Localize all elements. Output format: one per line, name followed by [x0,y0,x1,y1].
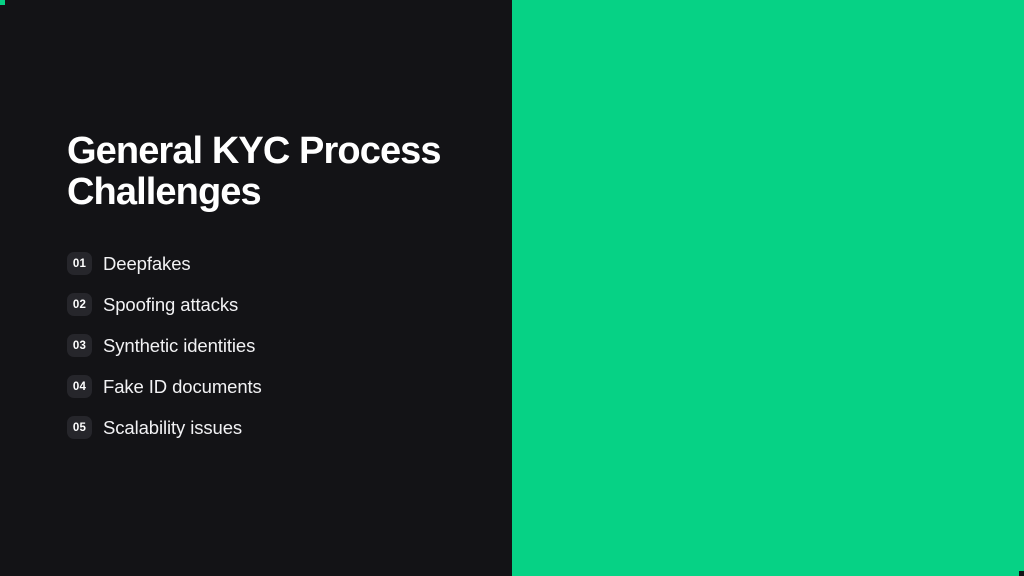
item-label: Deepfakes [103,253,191,275]
item-number-badge: 05 [67,416,92,439]
list-item: 04 Fake ID documents [67,366,488,407]
item-label: Spoofing attacks [103,294,238,316]
challenges-panel: General KYC Process Challenges 01 Deepfa… [0,0,512,576]
item-number-badge: 04 [67,375,92,398]
item-label: Fake ID documents [103,376,262,398]
comparison-slide: General KYC Process Challenges 01 Deepfa… [0,0,1024,576]
corner-artifact-bottom-right [1019,571,1024,576]
challenges-heading: General KYC Process Challenges [67,131,477,213]
corner-artifact-top-left [0,0,5,5]
benefits-panel: Video KYC Benefits 01 Enhanced security … [512,0,1024,576]
item-number-badge: 01 [67,252,92,275]
item-number-badge: 02 [67,293,92,316]
list-item: 03 Synthetic identities [67,325,488,366]
challenges-list: 01 Deepfakes 02 Spoofing attacks 03 Synt… [67,243,488,448]
list-item: 05 Scalability issues [67,407,488,448]
challenges-panel-content: General KYC Process Challenges 01 Deepfa… [67,131,488,448]
item-label: Synthetic identities [103,335,255,357]
list-item: 02 Spoofing attacks [67,284,488,325]
item-label: Scalability issues [103,417,242,439]
list-item: 01 Deepfakes [67,243,488,284]
item-number-badge: 03 [67,334,92,357]
